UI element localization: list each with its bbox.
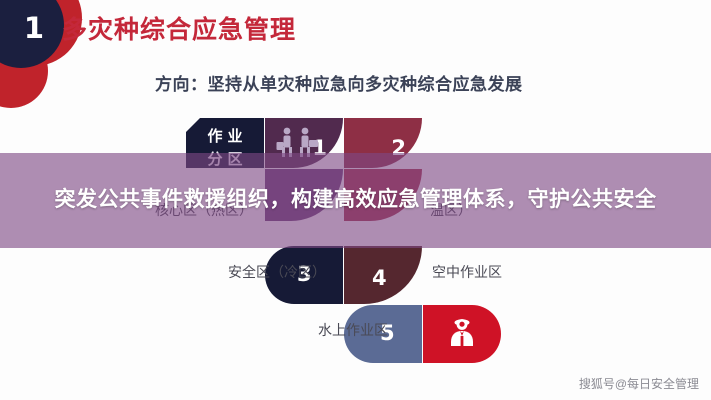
section-number-badge: 1 xyxy=(14,8,54,48)
watermark: 搜狐号@每日安全管理 xyxy=(579,375,699,392)
zone-caption-air: 空中作业区 xyxy=(432,262,502,282)
caption-headline: 突发公共事件救援组织，构建高效应急管理体系，守护公共安全 xyxy=(0,153,711,248)
worker-icon xyxy=(445,315,479,353)
rescue-worker-tile xyxy=(423,305,501,363)
slide-subtitle: 方向：坚持从单灾种应急向多灾种综合应急发展 xyxy=(155,70,523,95)
zone-caption-safe: 安全区（冷区） xyxy=(228,262,326,282)
slide-image: 1 多灾种综合应急管理 方向：坚持从单灾种应急向多灾种综合应急发展 作业 分区 … xyxy=(0,0,711,400)
zone-caption-water: 水上作业区 xyxy=(318,320,388,340)
zone-banner-line1: 作业 xyxy=(186,125,264,146)
zone-tile-4: 4 xyxy=(344,246,422,304)
zone-tile-4-number: 4 xyxy=(372,266,387,290)
slide-title: 多灾种综合应急管理 xyxy=(62,10,296,46)
